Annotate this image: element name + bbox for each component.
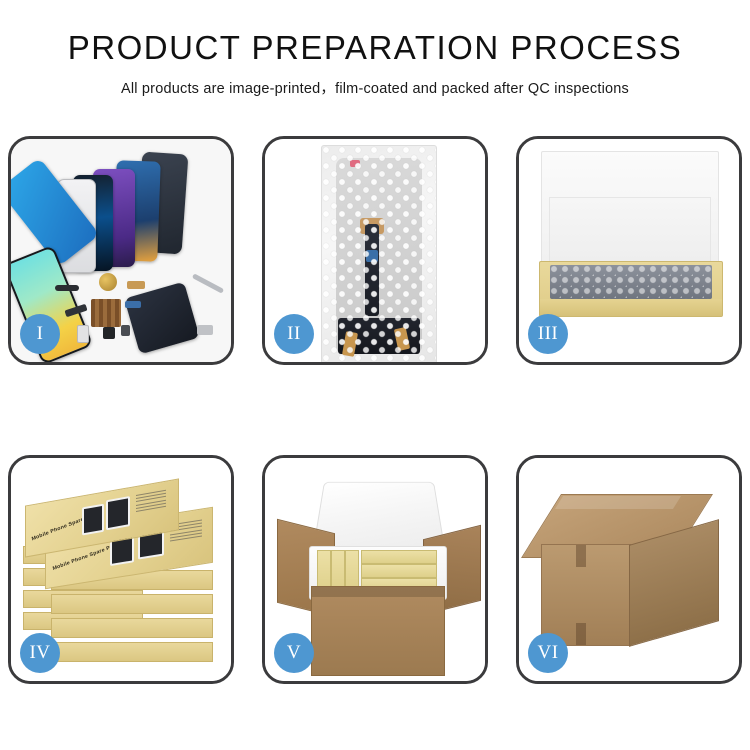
stacked-box-side	[51, 618, 213, 638]
step-badge-1: I	[20, 314, 60, 354]
step-badge-3: III	[528, 314, 568, 354]
step-panel-3: III	[516, 136, 742, 365]
process-steps-grid: I II	[8, 136, 742, 684]
box-front-wall	[540, 299, 722, 316]
step-badge-2: II	[274, 314, 314, 354]
bar-part	[55, 285, 79, 291]
step-panel-4: Mobile Phone Spare Parts Mobile Phone Sp…	[8, 455, 234, 684]
step-panel-1: I	[8, 136, 234, 365]
phone-back-housing	[124, 282, 200, 355]
flex-cable-part-b	[127, 281, 145, 289]
printed-screen-image	[106, 496, 130, 530]
printed-screen-image	[82, 504, 104, 536]
page-subtitle: All products are image-printed，film-coat…	[0, 77, 750, 98]
stacked-box-side	[51, 594, 213, 614]
step-badge-6: VI	[528, 633, 568, 673]
bubble-wrap-bag	[321, 145, 437, 362]
stacked-box-side	[51, 642, 213, 662]
flex-cable-part-c	[125, 301, 141, 308]
bubble-texture	[550, 265, 712, 299]
bubble-wrapped-contents	[550, 265, 712, 299]
carton-front-face	[541, 544, 631, 646]
carton-seam	[576, 623, 586, 645]
bubble-texture	[322, 146, 436, 362]
step-badge-5: V	[274, 633, 314, 673]
small-part-a	[121, 325, 130, 336]
packing-tape	[555, 496, 681, 509]
packed-box	[361, 550, 437, 564]
step-badge-4: IV	[20, 633, 60, 673]
camera-part	[103, 327, 115, 339]
carton-seam	[576, 545, 586, 567]
speaker-part	[99, 273, 117, 291]
step-panel-2: II	[262, 136, 488, 365]
product-preparation-infographic: PRODUCT PREPARATION PROCESS All products…	[0, 0, 750, 750]
step-panel-6: VI	[516, 455, 742, 684]
yellow-inner-box	[539, 261, 723, 317]
chip-grid-part	[91, 299, 121, 327]
carton-body	[311, 586, 445, 676]
box-print-text-lines	[136, 490, 166, 514]
page-title: PRODUCT PREPARATION PROCESS	[0, 30, 750, 66]
foam-sheet	[549, 197, 711, 271]
button-part	[77, 325, 89, 343]
step-panel-5: V	[262, 455, 488, 684]
tool-part	[192, 273, 224, 293]
screw-set-part	[197, 325, 213, 335]
header: PRODUCT PREPARATION PROCESS All products…	[0, 0, 750, 98]
packed-box	[361, 564, 437, 578]
